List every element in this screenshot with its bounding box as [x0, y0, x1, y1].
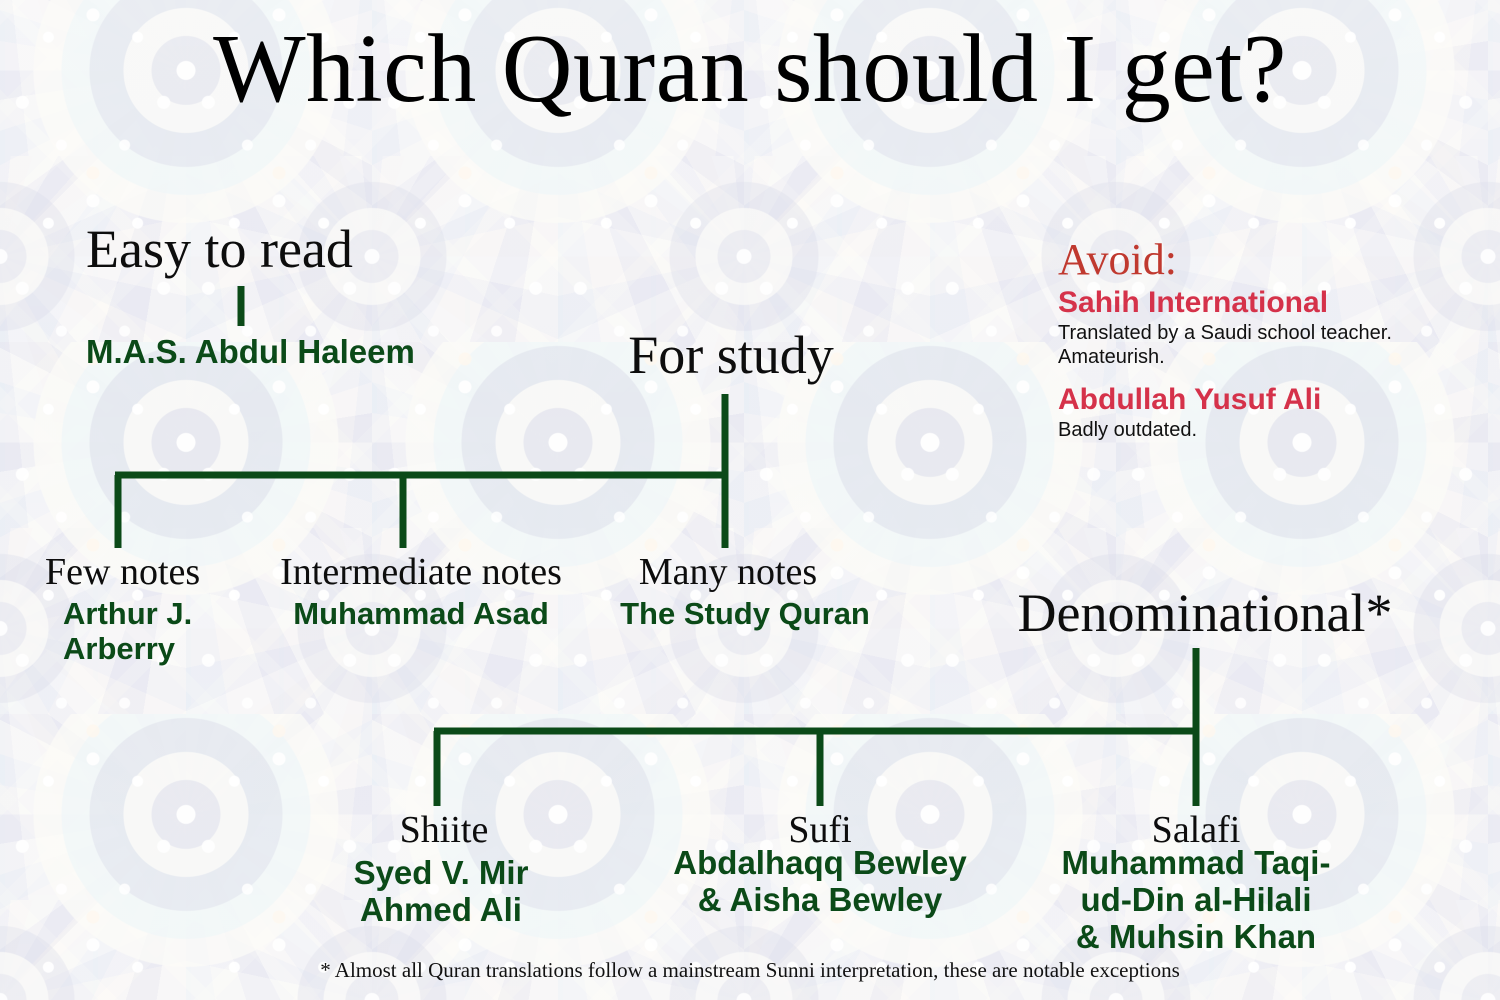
- translation-many-notes: The Study Quran: [620, 597, 870, 632]
- subcategory-shiite: Shiite: [400, 811, 489, 849]
- translation-easy-to-read: M.A.S. Abdul Haleem: [86, 334, 415, 371]
- translation-salafi: Muhammad Taqi-ud-Din al-Hilali& Muhsin K…: [1062, 845, 1331, 956]
- infographic-canvas: Which Quran should I get? Easy to read M…: [0, 0, 1500, 1000]
- translation-sufi: Abdalhaqq Bewley& Aisha Bewley: [673, 845, 966, 919]
- avoid-entry-reason-1: Translated by a Saudi school teacher.Ama…: [1058, 321, 1478, 370]
- category-for-study: For study: [628, 328, 834, 382]
- subcategory-many-notes: Many notes: [639, 553, 817, 591]
- subcategory-few-notes: Few notes: [45, 553, 200, 591]
- category-denominational: Denominational*: [1018, 586, 1393, 640]
- avoid-entry-reason-2: Badly outdated.: [1058, 418, 1478, 442]
- avoid-entry-name-1: Sahih International: [1058, 286, 1478, 320]
- avoid-section: Avoid: Sahih International Translated by…: [1058, 238, 1478, 442]
- page-title: Which Quran should I get?: [0, 18, 1500, 121]
- translation-shiite: Syed V. MirAhmed Ali: [354, 855, 529, 929]
- avoid-heading: Avoid:: [1058, 238, 1478, 282]
- footnote: * Almost all Quran translations follow a…: [0, 958, 1500, 983]
- translation-few-notes: Arthur J.Arberry: [63, 597, 192, 666]
- avoid-entry-name-2: Abdullah Yusuf Ali: [1058, 383, 1478, 417]
- translation-intermediate-notes: Muhammad Asad: [293, 597, 549, 632]
- avoid-spacer: [1058, 369, 1478, 383]
- subcategory-intermediate-notes: Intermediate notes: [280, 553, 562, 591]
- category-easy-to-read: Easy to read: [86, 222, 353, 276]
